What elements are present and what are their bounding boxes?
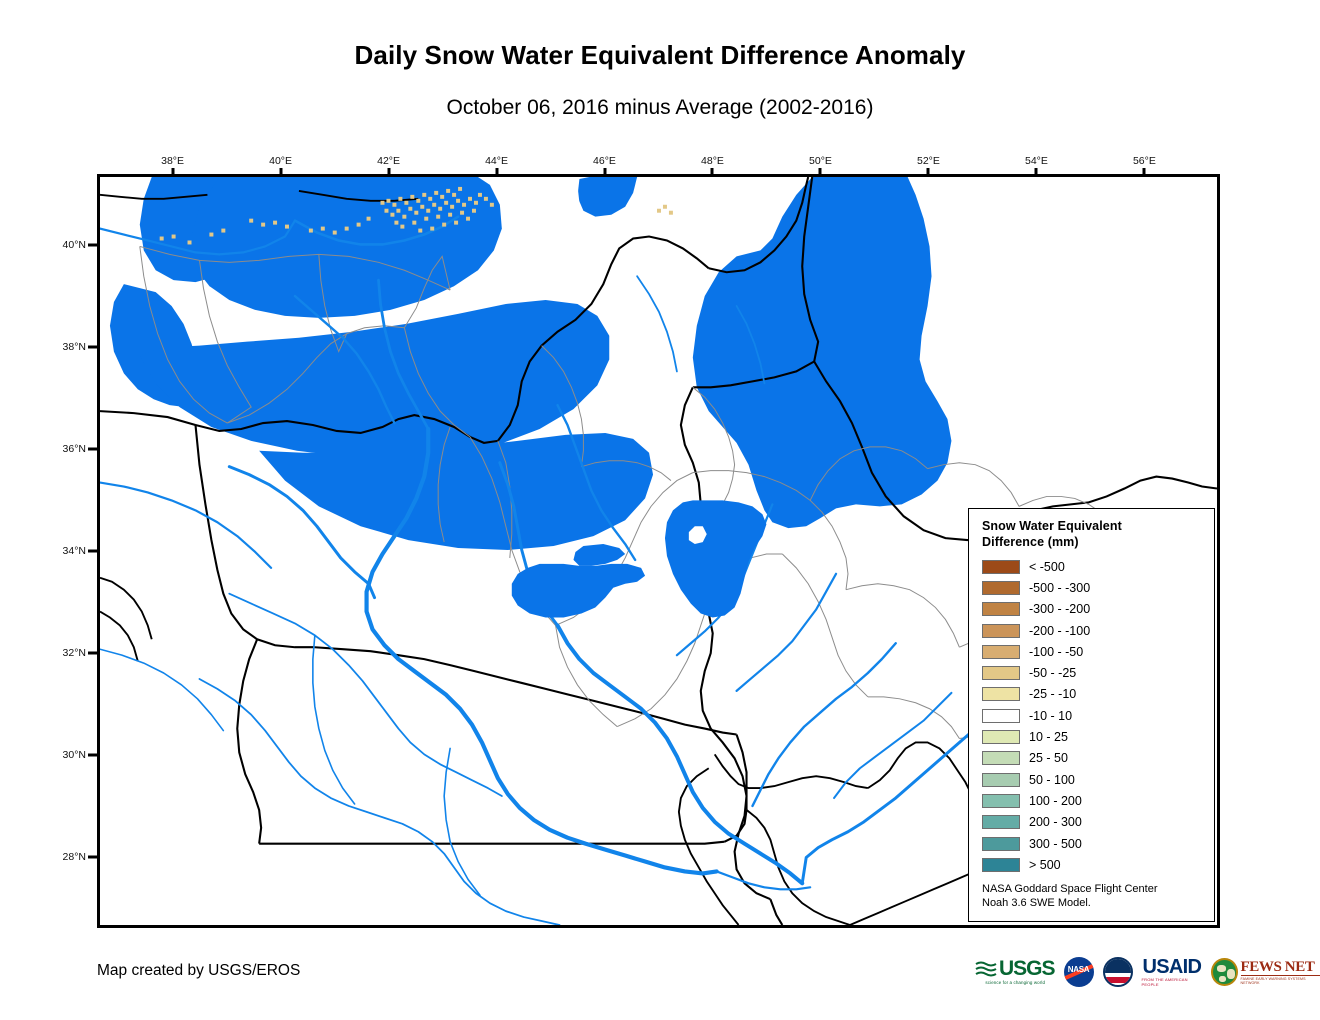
legend-label: 10 - 25 — [1029, 730, 1068, 744]
usgs-wave-icon — [975, 961, 997, 978]
legend-label: -300 - -200 — [1029, 602, 1090, 616]
legend-label: -50 - -25 — [1029, 666, 1076, 680]
legend-row: -50 - -25 — [982, 662, 1204, 683]
legend-swatch — [982, 560, 1020, 574]
latitude-tick-mark — [88, 346, 97, 349]
legend-swatch — [982, 645, 1020, 659]
legend-swatch — [982, 709, 1020, 723]
longitude-tick-label: 50°E — [809, 155, 832, 167]
longitude-tick-label: 38°E — [161, 155, 184, 167]
nasa-meatball-icon: NASA — [1064, 957, 1094, 987]
legend-label: -100 - -50 — [1029, 645, 1083, 659]
legend-swatch — [982, 666, 1020, 680]
longitude-tick-label: 42°E — [377, 155, 400, 167]
longitude-tick-label: 52°E — [917, 155, 940, 167]
nasa-logo: NASA — [1064, 955, 1094, 989]
legend-label: -25 - -10 — [1029, 687, 1076, 701]
legend-swatch — [982, 815, 1020, 829]
legend-row: -300 - -200 — [982, 599, 1204, 620]
legend-label: 300 - 500 — [1029, 837, 1082, 851]
latitude-tick-label: 28°N — [42, 851, 86, 863]
latitude-tick-mark — [88, 753, 97, 756]
map-legend: Snow Water Equivalent Difference (mm) < … — [968, 508, 1215, 922]
legend-row: 200 - 300 — [982, 812, 1204, 833]
legend-row: -500 - -300 — [982, 577, 1204, 598]
longitude-tick-label: 56°E — [1133, 155, 1156, 167]
legend-row: 25 - 50 — [982, 748, 1204, 769]
noaa-seal-upper — [1105, 959, 1131, 973]
legend-label: < -500 — [1029, 560, 1065, 574]
legend-swatch — [982, 602, 1020, 616]
usgs-wordmark: USGS — [999, 959, 1055, 979]
fewsnet-wordmark: FEWS NET — [1241, 960, 1320, 975]
latitude-tick-mark — [88, 651, 97, 654]
legend-row: 300 - 500 — [982, 833, 1204, 854]
usaid-tagline: FROM THE AMERICAN PEOPLE — [1142, 977, 1203, 987]
legend-source-line2: Noah 3.6 SWE Model. — [982, 897, 1204, 911]
noaa-seal-icon — [1103, 957, 1133, 987]
longitude-tick-label: 44°E — [485, 155, 508, 167]
legend-source-line1: NASA Goddard Space Flight Center — [982, 883, 1204, 897]
legend-title: Snow Water Equivalent Difference (mm) — [982, 519, 1204, 550]
map-credit: Map created by USGS/EROS — [97, 962, 300, 980]
legend-swatch — [982, 624, 1020, 638]
page-subtitle: October 06, 2016 minus Average (2002-201… — [0, 96, 1320, 120]
latitude-tick-mark — [88, 855, 97, 858]
longitude-tick-label: 46°E — [593, 155, 616, 167]
legend-label: 50 - 100 — [1029, 773, 1075, 787]
longitude-tick-label: 40°E — [269, 155, 292, 167]
legend-swatch — [982, 794, 1020, 808]
legend-label: 100 - 200 — [1029, 794, 1082, 808]
legend-row: 10 - 25 — [982, 726, 1204, 747]
legend-class-list: < -500-500 - -300-300 - -200-200 - -100-… — [982, 556, 1204, 875]
legend-swatch — [982, 751, 1020, 765]
legend-label: > 500 — [1029, 858, 1061, 872]
legend-swatch — [982, 858, 1020, 872]
legend-title-line2: Difference (mm) — [982, 535, 1204, 551]
fewsnet-globe-icon — [1211, 958, 1237, 986]
legend-swatch — [982, 773, 1020, 787]
legend-label: 200 - 300 — [1029, 815, 1082, 829]
nasa-wordmark: NASA — [1064, 965, 1094, 974]
noaa-seal-lower — [1105, 977, 1131, 983]
legend-swatch — [982, 581, 1020, 595]
legend-label: -500 - -300 — [1029, 581, 1090, 595]
legend-source: NASA Goddard Space Flight Center Noah 3.… — [982, 883, 1204, 910]
legend-row: < -500 — [982, 556, 1204, 577]
legend-label: -200 - -100 — [1029, 624, 1090, 638]
legend-swatch — [982, 687, 1020, 701]
fewsnet-logo: FEWS NET FAMINE EARLY WARNING SYSTEMS NE… — [1211, 955, 1320, 989]
noaa-logo — [1103, 955, 1133, 989]
latitude-tick-label: 32°N — [42, 647, 86, 659]
latitude-tick-mark — [88, 550, 97, 553]
longitude-tick-label: 48°E — [701, 155, 724, 167]
legend-row: -100 - -50 — [982, 641, 1204, 662]
legend-swatch — [982, 837, 1020, 851]
legend-row: -10 - 10 — [982, 705, 1204, 726]
latitude-tick-mark — [88, 448, 97, 451]
usgs-logo: USGS science for a changing world — [975, 955, 1055, 989]
usaid-logo: USAID FROM THE AMERICAN PEOPLE — [1142, 955, 1203, 989]
latitude-tick-label: 36°N — [42, 443, 86, 455]
legend-row: > 500 — [982, 854, 1204, 875]
usaid-wordmark: USAID — [1142, 958, 1201, 977]
legend-swatch — [982, 730, 1020, 744]
legend-label: 25 - 50 — [1029, 751, 1068, 765]
legend-row: 100 - 200 — [982, 790, 1204, 811]
page-title: Daily Snow Water Equivalent Difference A… — [0, 40, 1320, 71]
latitude-tick-label: 30°N — [42, 749, 86, 761]
legend-row: 50 - 100 — [982, 769, 1204, 790]
legend-row: -25 - -10 — [982, 684, 1204, 705]
legend-label: -10 - 10 — [1029, 709, 1072, 723]
legend-title-line1: Snow Water Equivalent — [982, 519, 1204, 535]
latitude-tick-mark — [88, 244, 97, 247]
latitude-tick-label: 38°N — [42, 341, 86, 353]
legend-row: -200 - -100 — [982, 620, 1204, 641]
longitude-tick-label: 54°E — [1025, 155, 1048, 167]
usgs-tagline: science for a changing world — [985, 980, 1045, 985]
latitude-tick-label: 34°N — [42, 545, 86, 557]
latitude-tick-label: 40°N — [42, 239, 86, 251]
fewsnet-tagline: FAMINE EARLY WARNING SYSTEMS NETWORK — [1241, 975, 1320, 985]
agency-logos: USGS science for a changing world NASA U… — [975, 955, 1320, 989]
